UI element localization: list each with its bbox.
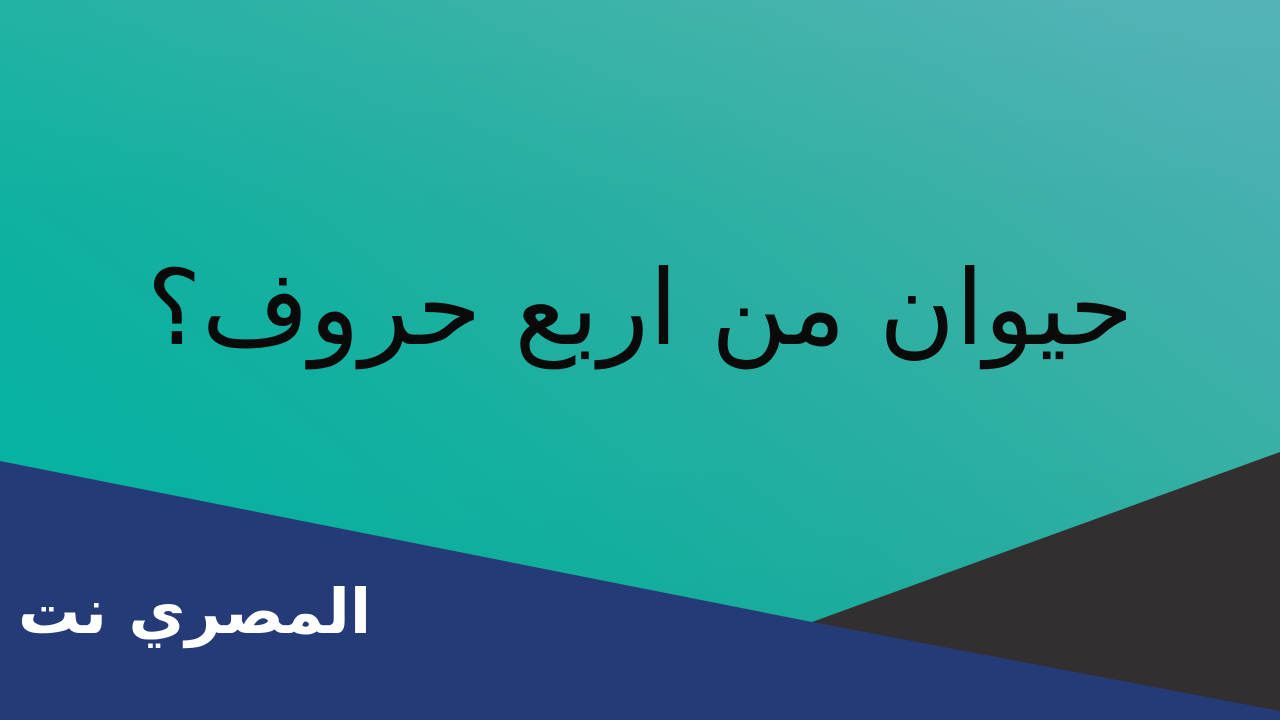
page-title: حيوان من اربع حروف؟ <box>0 247 1280 370</box>
slide-canvas: حيوان من اربع حروف؟ المصري نت <box>0 0 1280 720</box>
brand-watermark: المصري نت <box>18 578 371 646</box>
